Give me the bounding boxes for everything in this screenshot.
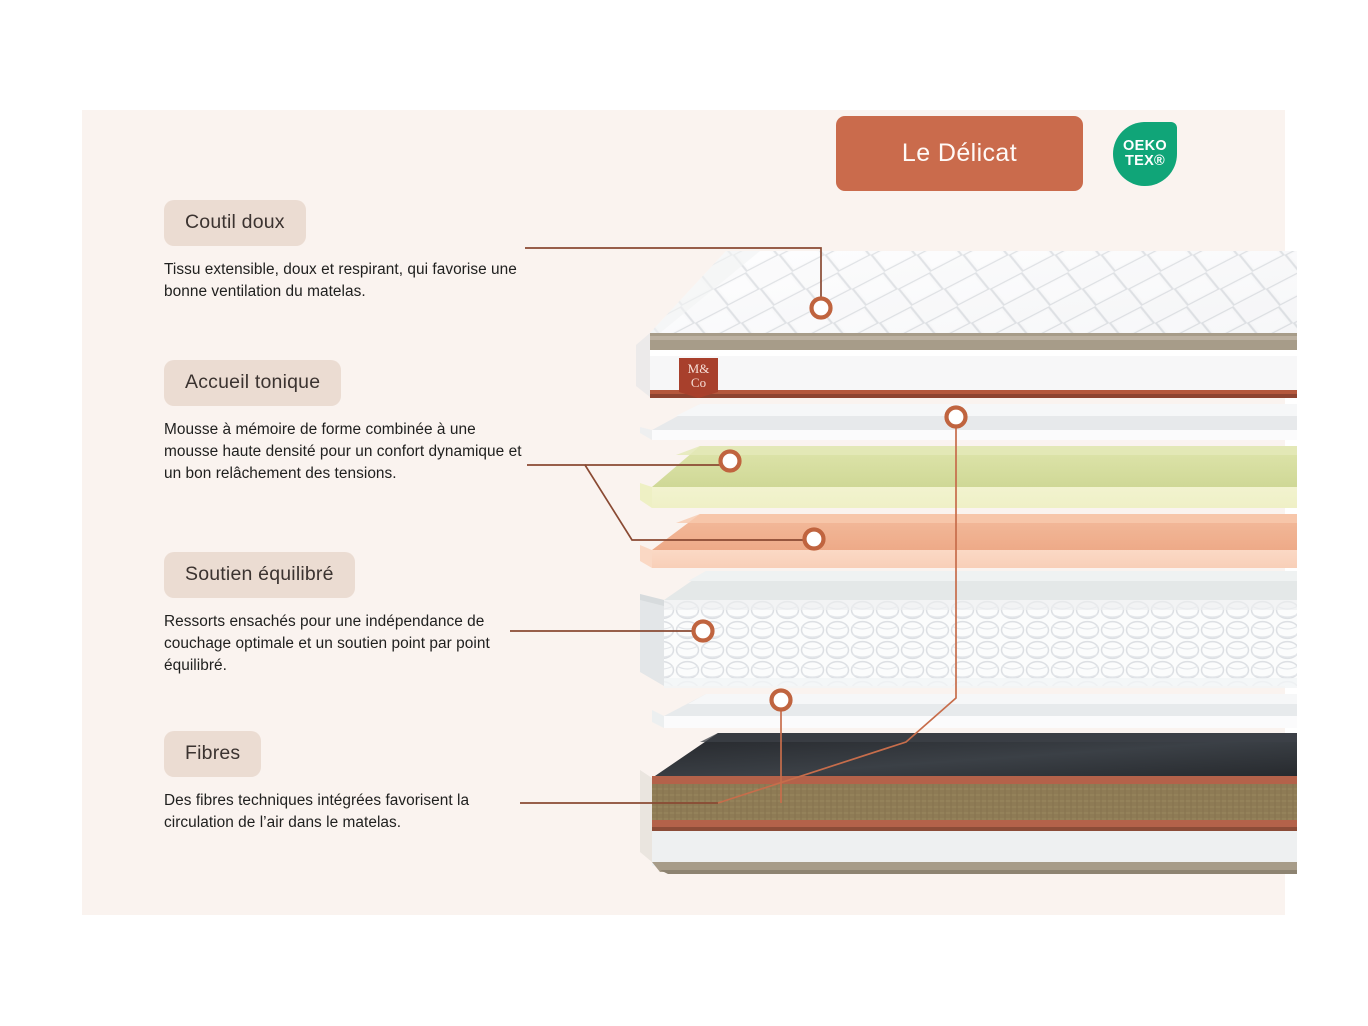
section-label: Fibres [185,742,240,764]
product-title-badge: Le Délicat [836,116,1083,191]
section-label-pill: Accueil tonique [164,360,341,406]
section-description: Des fibres techniques intégrées favorise… [164,790,524,834]
marker-accueil-green [721,452,740,471]
section-label: Soutien équilibré [185,563,334,585]
marker-soutien [694,622,713,641]
section-soutien-equilibre: Soutien équilibré Ressorts ensachés pour… [164,552,524,677]
section-label-pill: Coutil doux [164,200,306,246]
section-description: Tissu extensible, doux et respirant, qui… [164,259,524,303]
marker-coutil [812,299,831,318]
oeko-tex-line2: TEX® [1125,154,1165,169]
section-accueil-tonique: Accueil tonique Mousse à mémoire de form… [164,360,524,485]
section-label: Accueil tonique [185,371,320,393]
section-label-pill: Fibres [164,731,261,777]
section-label: Coutil doux [185,211,285,233]
section-description: Ressorts ensachés pour une indépendance … [164,611,524,677]
marker-fibres-lower [772,691,791,710]
section-label-pill: Soutien équilibré [164,552,355,598]
section-description: Mousse à mémoire de forme combinée à une… [164,419,524,485]
oeko-tex-line1: OEKO [1123,139,1167,154]
oeko-tex-logo: OEKO TEX® [1113,122,1177,186]
callout-markers [694,299,966,710]
callout-line-accueil-peach [527,465,805,540]
marker-fibres-upper [947,408,966,427]
callout-line-coutil [525,248,821,300]
callout-line-fibres-upper [718,420,956,803]
section-fibres: Fibres Des fibres techniques intégrées f… [164,731,524,834]
section-coutil-doux: Coutil doux Tissu extensible, doux et re… [164,200,524,303]
product-title: Le Délicat [902,139,1017,168]
marker-accueil-peach [805,530,824,549]
